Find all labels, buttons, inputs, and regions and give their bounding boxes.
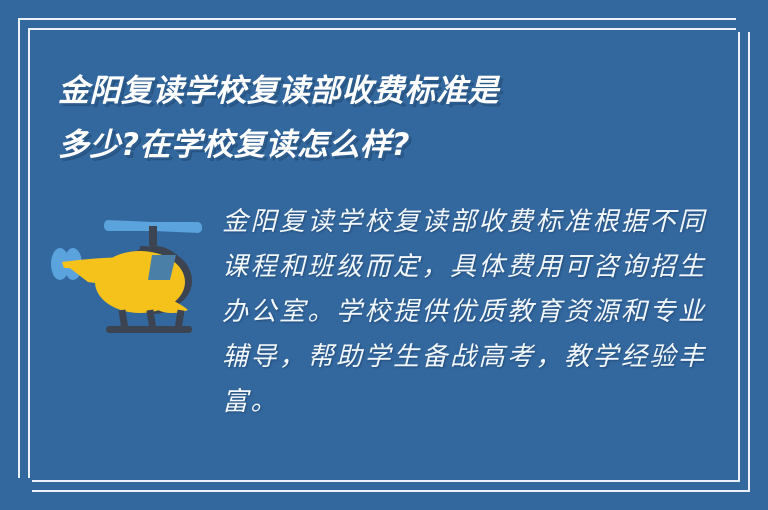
page-title: 金阳复读学校复读部收费标准是 多少?在学校复读怎么样? [58,64,678,172]
info-card: 金阳复读学校复读部收费标准是 多少?在学校复读怎么样? [0,0,768,510]
content-row: 金阳复读学校复读部收费标准根据不同课程和班级而定，具体费用可咨询招生办公室。学校… [40,196,718,462]
helicopter-illustration [40,196,222,334]
rotor-mast-icon [149,226,157,246]
frame-mask-top-right [736,10,750,32]
helicopter-icon [48,210,214,334]
frame-mask-bottom-left [18,478,32,500]
landing-skid-icon [106,309,192,333]
body-paragraph: 金阳复读学校复读部收费标准根据不同课程和班级而定，具体费用可咨询招生办公室。学校… [222,196,718,425]
